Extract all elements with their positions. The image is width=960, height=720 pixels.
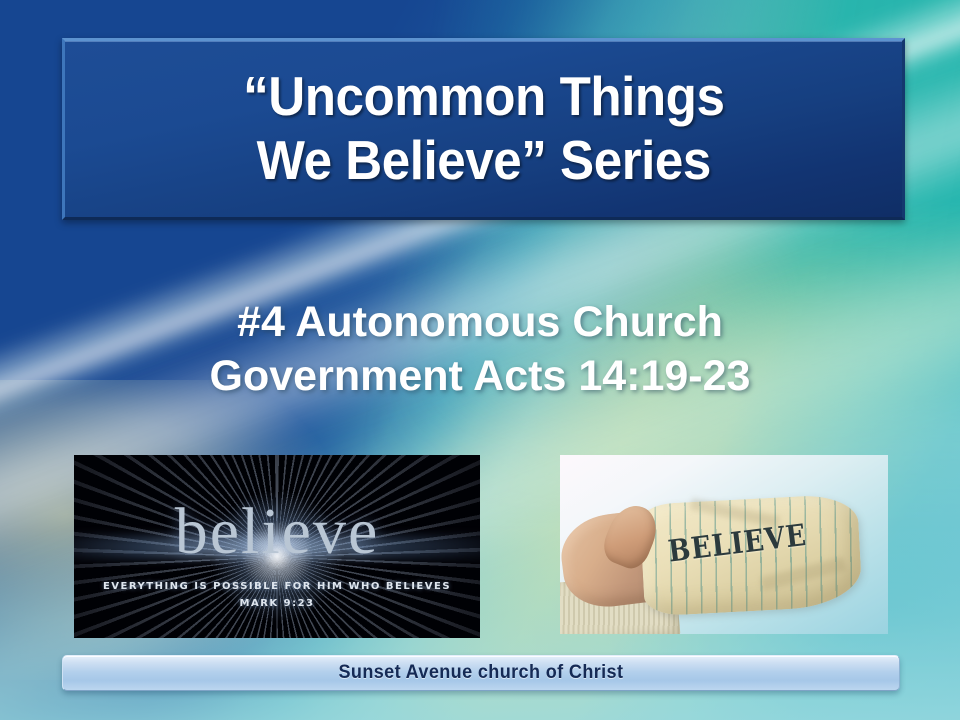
image-hand-holding-believe-note: BELIEVE: [560, 455, 888, 634]
believe-wordmark: believe: [74, 499, 480, 565]
footer-congregation-name: Sunset Avenue church of Christ: [339, 662, 624, 684]
title-box: “Uncommon Things We Believe” Series: [62, 38, 905, 220]
footer-bar: Sunset Avenue church of Christ: [62, 655, 900, 691]
believe-caption-line-2: MARK 9:23: [74, 598, 480, 609]
slide-title: “Uncommon Things We Believe” Series: [243, 65, 724, 193]
slide-subtitle: #4 Autonomous Church Government Acts 14:…: [0, 295, 960, 403]
image-believe-starburst: believe EVERYTHING IS POSSIBLE FOR HIM W…: [74, 455, 480, 638]
believe-caption-line-1: EVERYTHING IS POSSIBLE FOR HIM WHO BELIE…: [74, 581, 480, 592]
presentation-slide: “Uncommon Things We Believe” Series #4 A…: [0, 0, 960, 720]
